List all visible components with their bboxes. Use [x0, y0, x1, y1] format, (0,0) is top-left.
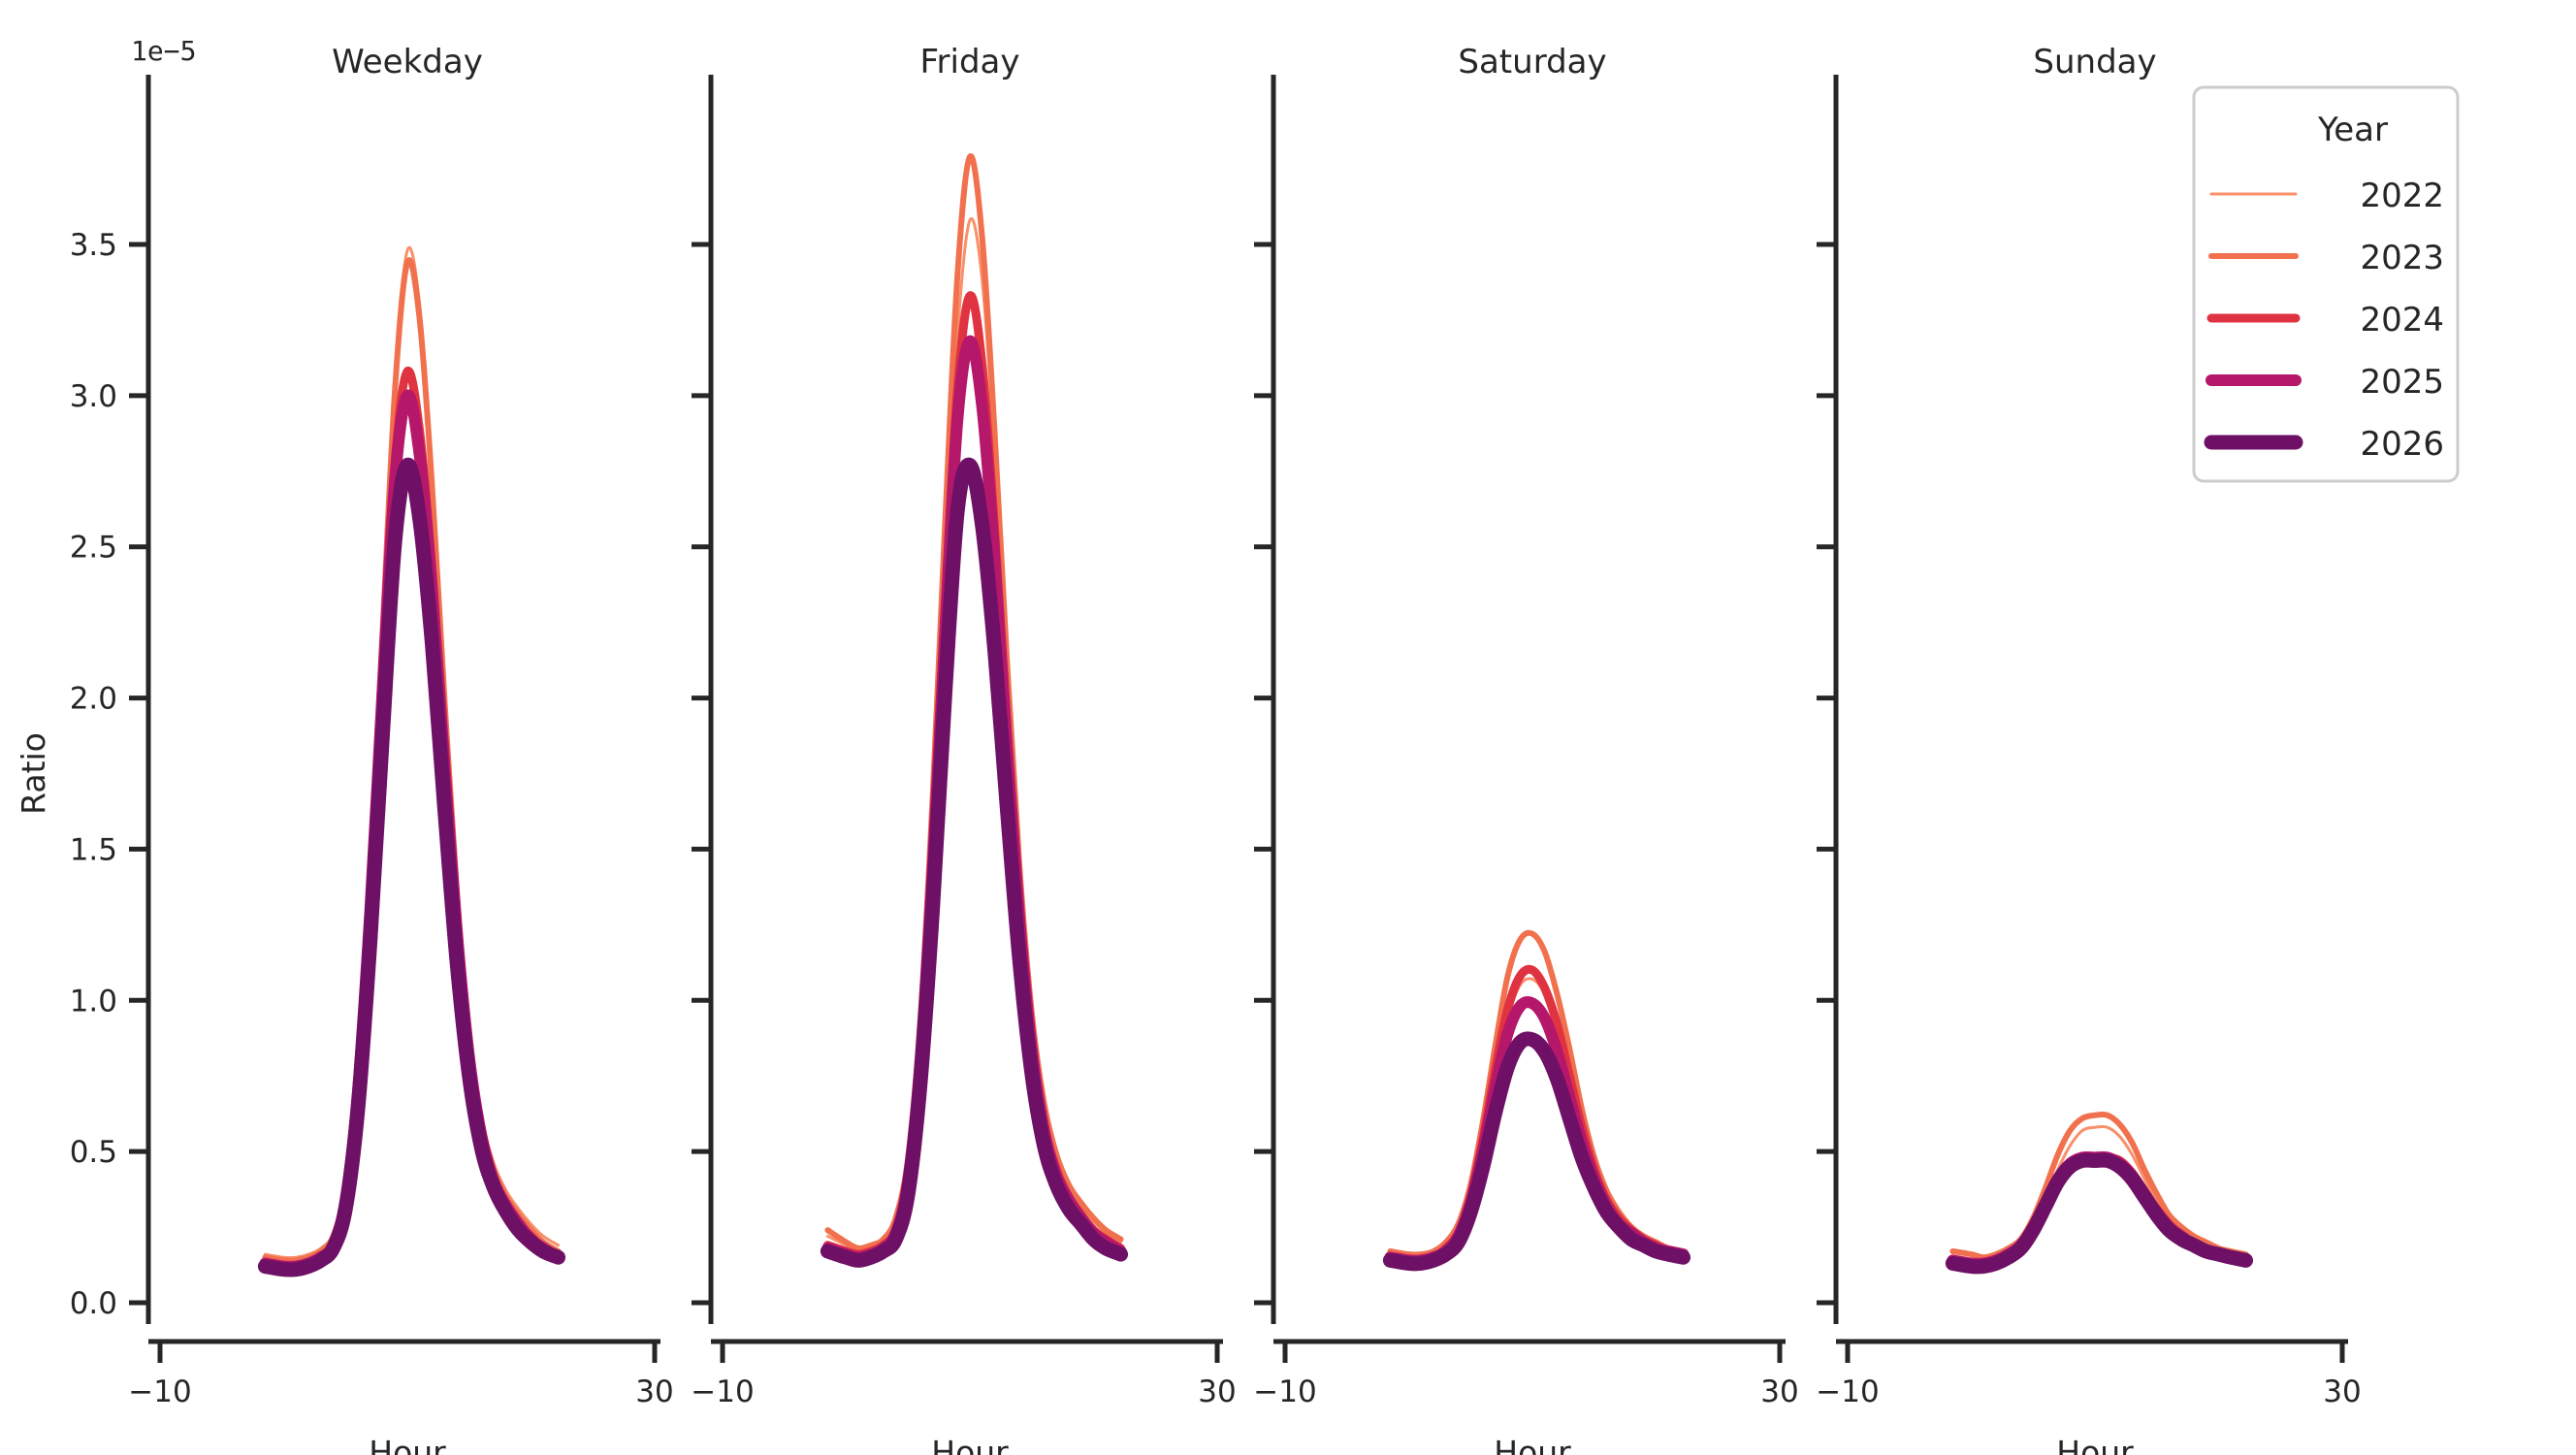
- x-tick-label: 30: [1760, 1374, 1798, 1409]
- chart-canvas: Weekday0.00.51.01.52.02.53.03.5−1030Hour…: [0, 0, 2576, 1455]
- x-tick-label: 30: [635, 1374, 673, 1409]
- x-tick-label: −10: [691, 1374, 754, 1409]
- y-tick-label: 1.5: [70, 832, 117, 867]
- y-tick-label: 3.0: [70, 379, 117, 414]
- x-tick-label: −10: [128, 1374, 191, 1409]
- y-tick-label: 2.5: [70, 531, 117, 566]
- legend-label-2025[interactable]: 2025: [2360, 363, 2444, 402]
- legend-label-2026[interactable]: 2026: [2360, 425, 2444, 464]
- legend-label-2024[interactable]: 2024: [2360, 301, 2444, 339]
- x-axis-label: Hour: [1494, 1434, 1571, 1455]
- legend-title: Year: [2317, 111, 2388, 149]
- x-axis-label: Hour: [369, 1434, 446, 1455]
- legend[interactable]: Year20222023202420252026: [2194, 87, 2458, 481]
- x-tick-label: 30: [2323, 1374, 2361, 1409]
- x-tick-label: 30: [1198, 1374, 1236, 1409]
- y-tick-label: 1.0: [70, 984, 117, 1018]
- y-tick-label: 3.5: [70, 228, 117, 263]
- x-axis-label: Hour: [931, 1434, 1009, 1455]
- y-tick-label: 0.5: [70, 1135, 117, 1170]
- legend-label-2023[interactable]: 2023: [2360, 239, 2444, 277]
- x-axis-label: Hour: [2056, 1434, 2134, 1455]
- facet-title: Friday: [919, 43, 1019, 81]
- y-axis-offset-text: 1e−5: [131, 35, 196, 67]
- y-tick-label: 0.0: [70, 1286, 117, 1321]
- y-tick-label: 2.0: [70, 682, 117, 717]
- x-tick-label: −10: [1253, 1374, 1316, 1409]
- x-tick-label: −10: [1816, 1374, 1879, 1409]
- chart-figure: Weekday0.00.51.01.52.02.53.03.5−1030Hour…: [0, 0, 2576, 1455]
- facet-title: Weekday: [332, 43, 483, 81]
- y-axis-label: Ratio: [15, 732, 52, 815]
- legend-label-2022[interactable]: 2022: [2360, 177, 2444, 215]
- facet-title: Saturday: [1458, 43, 1606, 81]
- facet-title: Sunday: [2033, 43, 2156, 81]
